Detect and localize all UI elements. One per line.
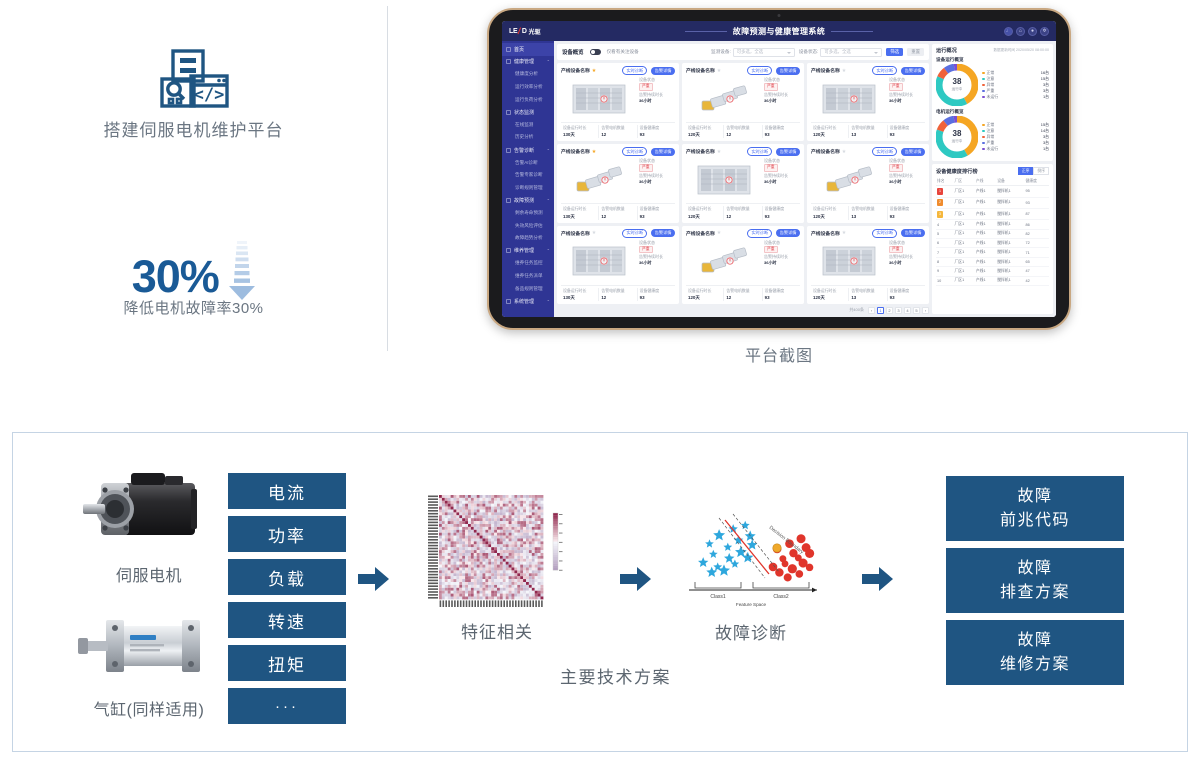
overview-title: 运行概况	[936, 47, 957, 54]
chevron-down-icon[interactable]: ⌃	[547, 148, 550, 153]
device-card[interactable]: 产线设备名称★实时诊断告警详情设备状态严重告警持续时长36小时设备运行时长120…	[682, 226, 804, 304]
cell-score: 93	[1025, 197, 1049, 208]
filter-title: 设备概览	[562, 48, 584, 56]
reset-button[interactable]: 重置	[907, 48, 924, 56]
cell-score: 72	[1025, 239, 1049, 248]
filter-device-label: 监测设备:	[711, 49, 731, 55]
cell-line: 产线1	[975, 267, 996, 276]
card-body: 设备状态严重告警持续时长36小时	[561, 158, 675, 201]
sidebar-item-7[interactable]: 历史分析	[502, 131, 554, 144]
gear-icon[interactable]: ✲	[1040, 27, 1049, 36]
card-header: 产线设备名称★实时诊断告警详情	[811, 229, 925, 238]
rank-tab-asc[interactable]: 正序	[1018, 167, 1034, 175]
realtime-diagnosis-button[interactable]: 实时诊断	[622, 147, 647, 156]
device-air-cylinder-label: 气缸(同样适用)	[74, 696, 224, 720]
app-body: 首页健康管理⌃健康度分析运行效率分析运行负荷分析状态监测在线监测历史分析告警诊断…	[502, 41, 1056, 317]
device-card[interactable]: 产线设备名称★实时诊断告警详情设备状态严重告警持续时长36小时设备运行时长120…	[807, 144, 929, 222]
filter-status-select[interactable]: 可多选，全选	[820, 48, 882, 57]
alarm-icon	[506, 148, 511, 153]
donut1-row: 38 运行中 正常16台注意15台异常3台严重3台未运行1台	[936, 64, 1049, 106]
sidebar-item-11[interactable]: 诊断规则管理	[502, 182, 554, 195]
sidebar-item-20[interactable]: 系统管理⌃	[502, 295, 554, 308]
filter-status-label: 设备状态:	[799, 49, 819, 55]
logo-main: LE	[509, 28, 517, 35]
favorite-star-icon[interactable]: ★	[842, 149, 846, 155]
card-metric-value: 120天	[813, 131, 848, 138]
sidebar-item-label: 告警诊断	[514, 147, 534, 154]
cell-rank: 5	[936, 229, 954, 238]
tablet-screen: LE / D 光驱 故障预测与健康管理系统 ♩ ⌂ ● ✲	[502, 21, 1056, 317]
alarm-detail-button[interactable]: 告警详情	[901, 148, 925, 156]
sidebar-item-label: 历史分析	[515, 134, 533, 140]
card-footer: 设备运行时长130天告警电机数量12设备健康度93	[561, 122, 675, 138]
sidebar-item-label: 首页	[514, 46, 524, 53]
card-metric: 设备健康度93	[638, 288, 675, 301]
sidebar-item-18[interactable]: 维养任务派单	[502, 270, 554, 283]
home-icon	[506, 47, 511, 52]
card-device-image	[686, 77, 761, 120]
cell-device: 搅拌机1	[996, 197, 1024, 208]
arrow-features-to-diagnosis	[620, 566, 652, 597]
card-metric-value: 93	[890, 294, 925, 301]
status-badge: 严重	[889, 83, 903, 91]
rank-medal-icon: 3	[937, 211, 943, 218]
cell-plant: 厂区1	[954, 197, 975, 208]
table-row[interactable]: 3厂区1产线1搅拌机187	[936, 208, 1049, 219]
card-metric-value: 13	[851, 294, 886, 301]
card-body: 设备状态严重告警持续时长36小时	[561, 77, 675, 120]
device-card[interactable]: 产线设备名称★实时诊断告警详情设备状态严重告警持续时长36小时设备运行时长120…	[682, 144, 804, 222]
card-body: 设备状态严重告警持续时长36小时	[686, 158, 800, 201]
grid-icon	[506, 299, 511, 304]
card-footer: 设备运行时长120天告警电机数量12设备健康度93	[686, 285, 800, 301]
stage-feature-correlation-label: 特征相关	[412, 618, 582, 643]
status-badge: 严重	[889, 246, 903, 254]
chart-icon	[506, 198, 511, 203]
legend-color-dot	[982, 124, 985, 127]
card-device-name: 产线设备名称	[686, 230, 715, 237]
kpi-number: 30%	[132, 251, 219, 302]
legend-color-dot	[982, 78, 985, 81]
card-metric-value: 130天	[563, 213, 598, 220]
rank-tab-desc[interactable]: 倒序	[1033, 167, 1049, 175]
device-servo-motor-label: 伺服电机	[74, 562, 224, 586]
alarm-detail-button[interactable]: 告警详情	[651, 229, 675, 237]
tablet-caption: 平台截图	[487, 342, 1071, 366]
card-metric: 设备健康度93	[638, 125, 675, 138]
table-row[interactable]: 6厂区1产线1搅拌机172	[936, 239, 1049, 248]
table-row[interactable]: 5厂区1产线1搅拌机182	[936, 229, 1049, 238]
overview-card: 运行概况 数据更新时间 2020/05/20 08:00:00 设备运行概览 3…	[932, 44, 1053, 161]
chevron-down-icon[interactable]: ⌃	[547, 59, 550, 64]
cell-line: 产线1	[975, 276, 996, 285]
card-metric-value: 93	[640, 294, 675, 301]
parameter-box-3: 转速	[228, 602, 346, 638]
cell-plant: 厂区1	[954, 208, 975, 219]
sidebar-item-label: 系统管理	[514, 298, 534, 305]
stage-feature-correlation: 特征相关	[412, 487, 582, 643]
cell-plant: 厂区1	[954, 220, 975, 229]
favorite-star-icon[interactable]: ★	[592, 149, 596, 155]
output-line1: 故障	[1017, 485, 1052, 508]
card-metric: 设备运行时长120天	[686, 125, 724, 138]
slide-root: </> 搭建伺服电机维护平台 30%	[0, 0, 1198, 764]
sidebar-item-5[interactable]: 状态监测	[502, 106, 554, 119]
legend-color-dot	[982, 130, 985, 133]
output-line1: 故障	[1017, 629, 1052, 652]
card-footer: 设备运行时长120天告警电机数量13设备健康度93	[811, 285, 925, 301]
favorite-star-icon[interactable]: ★	[717, 68, 721, 74]
alarm-detail-button[interactable]: 告警详情	[776, 67, 800, 75]
card-metric: 设备运行时长120天	[686, 288, 724, 301]
table-row[interactable]: 8厂区1产线1搅拌机165	[936, 257, 1049, 266]
donut-chart-devices: 38 运行中	[936, 64, 978, 106]
cell-device: 搅拌机1	[996, 229, 1024, 238]
card-device-image	[811, 240, 886, 283]
card-device-image	[686, 158, 761, 201]
table-row[interactable]: 1厂区1产线1搅拌机195	[936, 186, 1049, 197]
kpi-subtitle: 降低电机故障率30%	[0, 297, 387, 318]
sidebar-item-label: 告警AI诊断	[515, 160, 538, 166]
pagination-page-5[interactable]: 5	[913, 307, 920, 314]
cell-device: 搅拌机1	[996, 267, 1024, 276]
card-footer: 设备运行时长120天告警电机数量12设备健康度93	[686, 203, 800, 219]
pagination-page-2[interactable]: 2	[886, 307, 893, 314]
sidebar[interactable]: 首页健康管理⌃健康度分析运行效率分析运行负荷分析状态监测在线监测历史分析告警诊断…	[502, 41, 554, 317]
arrow-params-to-features	[358, 566, 390, 597]
device-card[interactable]: 产线设备名称★实时诊断告警详情设备状态严重告警持续时长36小时设备运行时长120…	[682, 63, 804, 141]
card-metric: 告警电机数量13	[849, 288, 887, 301]
sidebar-item-label: 健康管理	[514, 58, 534, 65]
output-line2: 维修方案	[1000, 653, 1070, 676]
alarm-detail-button[interactable]: 告警详情	[901, 67, 925, 75]
ranking-body: 1厂区1产线1搅拌机1952厂区1产线1搅拌机1933厂区1产线1搅拌机1874…	[936, 186, 1049, 286]
card-metric: 设备运行时长130天	[561, 206, 599, 219]
cell-rank: 8	[936, 257, 954, 266]
donut2-value: 38	[953, 130, 962, 138]
sidebar-item-14[interactable]: 失效风险评估	[502, 219, 554, 232]
realtime-diagnosis-button[interactable]: 实时诊断	[622, 66, 647, 75]
card-device-image	[561, 240, 636, 283]
sidebar-item-1[interactable]: 健康管理⌃	[502, 56, 554, 69]
cell-device: 搅拌机1	[996, 220, 1024, 229]
card-metric-value: 120天	[813, 213, 848, 220]
card-device-name: 产线设备名称	[686, 67, 715, 74]
cell-rank: 4	[936, 220, 954, 229]
status-badge: 严重	[639, 246, 653, 254]
favorite-star-icon[interactable]: ★	[592, 230, 596, 236]
card-body: 设备状态严重告警持续时长36小时	[811, 77, 925, 120]
filter-device-select[interactable]: 可多选，全选	[733, 48, 795, 57]
device-card[interactable]: 产线设备名称★实时诊断告警详情设备状态严重告警持续时长36小时设备运行时长130…	[557, 144, 679, 222]
sidebar-item-17[interactable]: 维养任务监控	[502, 257, 554, 270]
stage-fault-diagnosis-label: 故障诊断	[676, 619, 826, 644]
legend-color-dot	[982, 84, 985, 87]
card-metric: 告警电机数量13	[849, 125, 887, 138]
wrench-icon	[506, 248, 511, 253]
alarm-detail-button[interactable]: 告警详情	[651, 148, 675, 156]
sidebar-item-6[interactable]: 在线监测	[502, 119, 554, 132]
device-air-cylinder: 气缸(同样适用)	[74, 600, 224, 720]
card-metric: 告警电机数量12	[599, 125, 637, 138]
card-status-meta: 设备状态严重告警持续时长36小时	[764, 158, 800, 201]
sidebar-item-15[interactable]: 故障趋势分析	[502, 232, 554, 245]
rank-medal-icon: 2	[937, 199, 943, 206]
user-icon[interactable]: ●	[1028, 27, 1037, 36]
overview-header: 运行概况 数据更新时间 2020/05/20 08:00:00	[936, 47, 1049, 54]
output-column: 故障前兆代码故障排查方案故障维修方案	[946, 476, 1124, 692]
classification-scatter: Decision Boundary Class1 Class2 Feature …	[676, 512, 826, 613]
cell-device: 搅拌机1	[996, 239, 1024, 248]
donut2-center: 38 运行中	[936, 116, 978, 158]
card-metric: 设备健康度93	[888, 288, 925, 301]
filter-bar: 设备概览 仅看有关注设备 监测设备: 可多选，全选	[557, 44, 929, 60]
realtime-diagnosis-button[interactable]: 实时诊断	[747, 66, 772, 75]
realtime-diagnosis-button[interactable]: 实时诊断	[747, 229, 772, 238]
status-badge: 严重	[764, 246, 778, 254]
card-metric-value: 12	[726, 131, 761, 138]
pagination-prev[interactable]: ‹	[868, 307, 875, 314]
cell-device: 搅拌机1	[996, 186, 1024, 197]
realtime-diagnosis-button[interactable]: 实时诊断	[872, 147, 897, 156]
favorite-star-icon[interactable]: ★	[842, 230, 846, 236]
card-metric: 设备运行时长120天	[811, 206, 849, 219]
card-metric: 设备运行时长120天	[686, 206, 724, 219]
sidebar-item-12[interactable]: 故障预测⌃	[502, 194, 554, 207]
ranking-col-header: 健康度	[1025, 177, 1049, 186]
donut1-center: 38 运行中	[936, 64, 978, 106]
search-button[interactable]: 筛选	[886, 48, 903, 56]
donut2-title: 电机运行概览	[936, 109, 1049, 115]
cell-plant: 厂区1	[954, 257, 975, 266]
sidebar-item-16[interactable]: 维养管理⌃	[502, 245, 554, 258]
sidebar-item-2[interactable]: 健康度分析	[502, 68, 554, 81]
alarm-detail-button[interactable]: 告警详情	[776, 148, 800, 156]
card-status-meta: 设备状态严重告警持续时长36小时	[639, 240, 675, 283]
sidebar-item-label: 故障趋势分析	[515, 235, 543, 241]
cell-line: 产线1	[975, 248, 996, 257]
sidebar-item-label: 维养管理	[514, 247, 534, 254]
cell-score: 82	[1025, 229, 1049, 238]
parameter-box-2: 负载	[228, 559, 346, 595]
cell-rank: 1	[936, 186, 954, 197]
cell-plant: 厂区1	[954, 276, 975, 285]
sidebar-item-label: 剩余寿命预测	[515, 210, 543, 216]
sidebar-item-8[interactable]: 告警诊断⌃	[502, 144, 554, 157]
pagination-total: 共400条	[849, 307, 864, 313]
card-status-meta: 设备状态严重告警持续时长36小时	[889, 77, 925, 120]
cell-plant: 厂区1	[954, 248, 975, 257]
sidebar-item-label: 备品规则管理	[515, 286, 543, 292]
card-device-image	[811, 77, 886, 120]
sidebar-item-19[interactable]: 备品规则管理	[502, 282, 554, 295]
cell-score: 42	[1025, 276, 1049, 285]
realtime-diagnosis-button[interactable]: 实时诊断	[622, 229, 647, 238]
realtime-diagnosis-button[interactable]: 实时诊断	[747, 147, 772, 156]
sidebar-item-13[interactable]: 剩余寿命预测	[502, 207, 554, 220]
alarm-detail-button[interactable]: 告警详情	[651, 67, 675, 75]
table-row[interactable]: 2厂区1产线1搅拌机193	[936, 197, 1049, 208]
card-metric: 告警电机数量12	[724, 206, 762, 219]
card-device-name: 产线设备名称	[811, 67, 840, 74]
donut2-legend: 正常15台注意14台异常3台严重3台未运行1台	[982, 122, 1049, 152]
legend-color-dot	[982, 72, 985, 75]
cell-rank: 3	[936, 208, 954, 219]
kpi-icon-wrapper: </>	[0, 48, 387, 115]
ranking-col-header: 产线	[975, 177, 996, 186]
alarm-detail-button[interactable]: 告警详情	[901, 229, 925, 237]
donut1-title: 设备运行概览	[936, 57, 1049, 63]
sidebar-item-label: 运行效率分析	[515, 84, 543, 90]
legend-color-dot	[982, 136, 985, 139]
chevron-down-icon[interactable]: ⌃	[547, 299, 550, 304]
card-metric: 告警电机数量12	[599, 288, 637, 301]
cell-score: 86	[1025, 220, 1049, 229]
output-box-2: 故障维修方案	[946, 620, 1124, 685]
card-status-meta: 设备状态严重告警持续时长36小时	[889, 158, 925, 201]
cell-rank: 7	[936, 248, 954, 257]
legend-label: 未运行	[987, 94, 999, 100]
ranking-tabs: 正序 倒序	[1018, 167, 1049, 175]
app-title: 故障预测与健康管理系统	[502, 26, 1056, 37]
correlation-heatmap	[412, 487, 582, 612]
table-row[interactable]: 9厂区1产线1搅拌机147	[936, 267, 1049, 276]
cell-device: 搅拌机1	[996, 248, 1024, 257]
card-metric-value: 93	[890, 131, 925, 138]
class1-label: Class1	[710, 594, 726, 600]
favorite-star-icon[interactable]: ★	[717, 149, 721, 155]
bell-icon[interactable]: ♩	[1004, 27, 1013, 36]
duration-value: 36小时	[764, 179, 800, 185]
parameter-box-5: ···	[228, 688, 346, 724]
cell-line: 产线1	[975, 220, 996, 229]
sidebar-item-label: 维养任务派单	[515, 273, 543, 279]
card-metric: 告警电机数量12	[724, 125, 762, 138]
card-metric: 告警电机数量12	[599, 206, 637, 219]
card-metric: 设备运行时长120天	[811, 125, 849, 138]
device-servo-motor: 伺服电机	[74, 466, 224, 586]
overview-updated: 数据更新时间 2020/05/20 08:00:00	[993, 48, 1049, 53]
cell-line: 产线1	[975, 239, 996, 248]
card-status-meta: 设备状态严重告警持续时长36小时	[764, 240, 800, 283]
table-row[interactable]: 4厂区1产线1搅拌机186	[936, 220, 1049, 229]
sidebar-item-label: 故障预测	[514, 197, 534, 204]
card-metric-value: 130天	[563, 294, 598, 301]
donut1-legend: 正常16台注意15台异常3台严重3台未运行1台	[982, 70, 1049, 100]
cell-plant: 厂区1	[954, 267, 975, 276]
realtime-diagnosis-button[interactable]: 实时诊断	[872, 66, 897, 75]
cell-line: 产线1	[975, 208, 996, 219]
card-body: 设备状态严重告警持续时长36小时	[811, 240, 925, 283]
cell-score: 47	[1025, 267, 1049, 276]
favorite-star-icon[interactable]: ★	[842, 68, 846, 74]
pagination-page-3[interactable]: 3	[895, 307, 902, 314]
table-row[interactable]: 10厂区1产线1搅拌机142	[936, 276, 1049, 285]
card-device-image	[686, 240, 761, 283]
app-logo: LE / D 光驱	[509, 26, 541, 36]
card-metric: 设备运行时长130天	[561, 125, 599, 138]
duration-value: 36小时	[889, 98, 925, 104]
output-box-1: 故障排查方案	[946, 548, 1124, 613]
cell-score: 87	[1025, 208, 1049, 219]
card-metric-value: 13	[851, 213, 886, 220]
cell-line: 产线1	[975, 257, 996, 266]
cell-line: 产线1	[975, 197, 996, 208]
card-metric: 设备运行时长130天	[561, 288, 599, 301]
card-device-name: 产线设备名称	[561, 148, 590, 155]
duration-value: 36小时	[764, 260, 800, 266]
sidebar-item-3[interactable]: 运行效率分析	[502, 81, 554, 94]
card-device-name: 产线设备名称	[811, 230, 840, 237]
table-row[interactable]: 7厂区1产线1搅拌机171	[936, 248, 1049, 257]
device-card[interactable]: 产线设备名称★实时诊断告警详情设备状态严重告警持续时长36小时设备运行时长130…	[557, 63, 679, 141]
card-metric: 设备健康度93	[638, 206, 675, 219]
pagination-page-1[interactable]: 1	[877, 307, 884, 314]
watch-only-toggle[interactable]	[590, 49, 601, 55]
card-body: 设备状态严重告警持续时长36小时	[686, 240, 800, 283]
cell-rank: 10	[936, 276, 954, 285]
parameter-box-1: 功率	[228, 516, 346, 552]
sidebar-item-label: 运行负荷分析	[515, 97, 543, 103]
sidebar-item-9[interactable]: 告警AI诊断	[502, 156, 554, 169]
pagination[interactable]: 共400条‹12345›	[557, 304, 929, 314]
duration-value: 36小时	[889, 260, 925, 266]
favorite-star-icon[interactable]: ★	[592, 68, 596, 74]
chevron-down-icon[interactable]: ⌃	[547, 248, 550, 253]
legend-color-dot	[982, 96, 985, 99]
stage-fault-diagnosis: Decision Boundary Class1 Class2 Feature …	[676, 512, 826, 644]
content-area: 设备概览 仅看有关注设备 监测设备: 可多选，全选	[554, 41, 932, 317]
device-card[interactable]: 产线设备名称★实时诊断告警详情设备状态严重告警持续时长36小时设备运行时长130…	[557, 226, 679, 304]
cell-score: 95	[1025, 186, 1049, 197]
pagination-page-4[interactable]: 4	[904, 307, 911, 314]
chevron-down-icon[interactable]: ⌃	[547, 198, 550, 203]
sidebar-item-4[interactable]: 运行负荷分析	[502, 93, 554, 106]
legend-label: 未运行	[987, 146, 999, 152]
arrow-diagnosis-to-outputs	[862, 566, 894, 597]
sidebar-item-label: 告警专家诊断	[515, 172, 543, 178]
card-footer: 设备运行时长120天告警电机数量12设备健康度93	[686, 122, 800, 138]
favorite-star-icon[interactable]: ★	[717, 230, 721, 236]
main-column: 设备概览 仅看有关注设备 监测设备: 可多选，全选	[554, 41, 1056, 317]
device-card[interactable]: 产线设备名称★实时诊断告警详情设备状态严重告警持续时长36小时设备运行时长120…	[807, 63, 929, 141]
card-header: 产线设备名称★实时诊断告警详情	[561, 229, 675, 238]
device-card-grid: 产线设备名称★实时诊断告警详情设备状态严重告警持续时长36小时设备运行时长130…	[557, 63, 929, 304]
card-metric-value: 130天	[563, 131, 598, 138]
pagination-next[interactable]: ›	[922, 307, 929, 314]
feature-space-label: Feature Space	[736, 602, 767, 607]
tablet-camera-icon	[778, 14, 781, 17]
card-header: 产线设备名称★实时诊断告警详情	[811, 66, 925, 75]
device-card[interactable]: 产线设备名称★实时诊断告警详情设备状态严重告警持续时长36小时设备运行时长120…	[807, 226, 929, 304]
card-metric-value: 93	[640, 213, 675, 220]
alarm-detail-button[interactable]: 告警详情	[776, 229, 800, 237]
legend-value: 1台	[1043, 146, 1049, 152]
cell-plant: 厂区1	[954, 186, 975, 197]
header-icon-group: ♩ ⌂ ● ✲	[1004, 27, 1049, 36]
cell-rank: 9	[936, 267, 954, 276]
sidebar-item-0[interactable]: 首页	[502, 43, 554, 56]
home-icon[interactable]: ⌂	[1016, 27, 1025, 36]
card-status-meta: 设备状态严重告警持续时长36小时	[764, 77, 800, 120]
legend-value: 1台	[1043, 94, 1049, 100]
ranking-col-header: 厂区	[954, 177, 975, 186]
cell-device: 搅拌机1	[996, 257, 1024, 266]
servo-motor-photo	[74, 466, 224, 558]
realtime-diagnosis-button[interactable]: 实时诊断	[872, 229, 897, 238]
status-badge: 严重	[639, 83, 653, 91]
sidebar-item-10[interactable]: 告警专家诊断	[502, 169, 554, 182]
